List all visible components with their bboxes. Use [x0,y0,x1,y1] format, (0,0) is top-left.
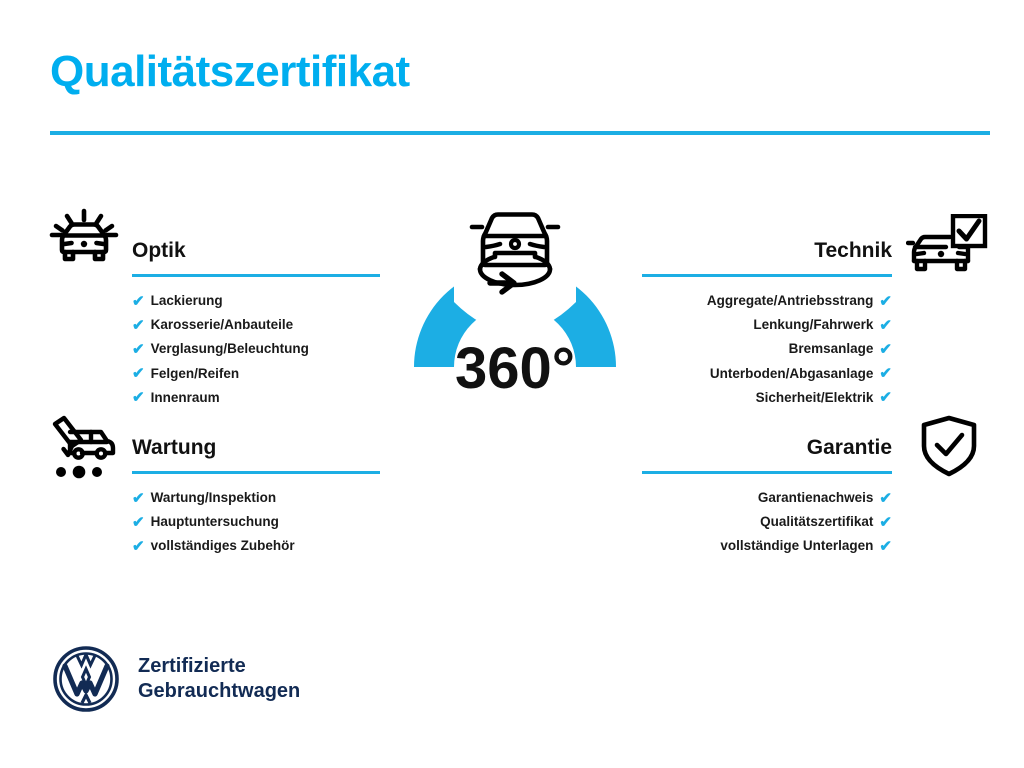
footer-brand-line2: Gebrauchtwagen [138,679,300,704]
section-technik-title: Technik [642,237,892,265]
list-item: ✔Lackierung [132,289,380,313]
badge-360-check: 360° Gebrauchtwagen-Check [370,192,660,492]
check-icon: ✔ [132,390,145,405]
section-garantie-underline [642,471,892,474]
page-title: Qualitätszertifikat [50,48,410,96]
section-technik: Technik ✔Aggregate/Antriebsstrang ✔Lenku… [642,237,892,410]
section-optik-header: Optik [132,237,380,281]
car-rotation-360-icon [450,195,580,307]
car-front-checkbox-icon [906,214,990,283]
list-item: ✔Felgen/Reifen [132,362,380,386]
header-divider [50,131,990,135]
list-item-label: vollständige Unterlagen [720,534,873,558]
list-item-label: Lackierung [151,289,223,313]
section-garantie-header: Garantie [642,434,892,478]
section-wartung-header: Wartung [132,434,380,478]
check-icon: ✔ [879,390,892,405]
check-icon: ✔ [879,515,892,530]
section-technik-underline [642,274,892,277]
list-item: ✔Wartung/Inspektion [132,486,380,510]
list-item-label: Karosserie/Anbauteile [151,313,294,337]
check-icon: ✔ [132,318,145,333]
list-item-label: Qualitätszertifikat [760,510,873,534]
list-item: ✔vollständiges Zubehör [132,534,380,558]
list-item: ✔Sicherheit/Elektrik [642,386,892,410]
footer-brand-line1: Zertifizierte [138,654,300,679]
section-technik-list: ✔Aggregate/Antriebsstrang ✔Lenkung/Fahrw… [642,289,892,410]
list-item-label: Felgen/Reifen [151,362,240,386]
check-icon: ✔ [132,515,145,530]
section-optik: Optik ✔Lackierung ✔Karosserie/Anbauteile… [132,237,380,410]
list-item: ✔Hauptuntersuchung [132,510,380,534]
list-item: ✔Qualitätszertifikat [642,510,892,534]
section-technik-header: Technik [642,237,892,281]
check-icon: ✔ [132,342,145,357]
list-item: ✔Verglasung/Beleuchtung [132,337,380,361]
list-item: ✔vollständige Unterlagen [642,534,892,558]
section-optik-underline [132,274,380,277]
list-item-label: Garantienachweis [758,486,874,510]
list-item-label: Sicherheit/Elektrik [756,386,874,410]
certificate-page: Qualitätszertifikat [0,0,1024,768]
list-item-label: Hauptuntersuchung [151,510,279,534]
list-item: ✔Bremsanlage [642,337,892,361]
footer-brand-text: Zertifizierte Gebrauchtwagen [138,654,300,704]
check-icon: ✔ [132,294,145,309]
section-wartung: Wartung ✔Wartung/Inspektion ✔Hauptunters… [132,434,380,559]
section-garantie-list: ✔Garantienachweis ✔Qualitätszertifikat ✔… [642,486,892,559]
check-icon: ✔ [132,366,145,381]
shield-check-icon [916,414,982,483]
list-item-label: Unterboden/Abgasanlage [710,362,874,386]
section-garantie-title: Garantie [642,434,892,462]
check-icon: ✔ [132,491,145,506]
list-item-label: vollständiges Zubehör [151,534,295,558]
check-icon: ✔ [879,318,892,333]
section-wartung-underline [132,471,380,474]
section-optik-title: Optik [132,237,380,265]
list-item: ✔Innenraum [132,386,380,410]
check-icon: ✔ [132,539,145,554]
car-front-shine-icon [46,204,122,285]
section-wartung-title: Wartung [132,434,380,462]
check-icon: ✔ [879,294,892,309]
check-icon: ✔ [879,539,892,554]
list-item: ✔Unterboden/Abgasanlage [642,362,892,386]
list-item: ✔Aggregate/Antriebsstrang [642,289,892,313]
section-garantie: Garantie ✔Garantienachweis ✔Qualitätszer… [642,434,892,559]
list-item: ✔Garantienachweis [642,486,892,510]
list-item-label: Wartung/Inspektion [151,486,277,510]
list-item-label: Aggregate/Antriebsstrang [707,289,874,313]
list-item-label: Innenraum [151,386,220,410]
list-item-label: Bremsanlage [789,337,874,361]
check-icon: ✔ [879,366,892,381]
volkswagen-logo-icon [52,645,120,713]
list-item: ✔Lenkung/Fahrwerk [642,313,892,337]
pencil-car-service-icon [46,415,122,486]
badge-center-label: 360° [455,336,575,401]
list-item-label: Verglasung/Beleuchtung [151,337,309,361]
section-optik-list: ✔Lackierung ✔Karosserie/Anbauteile ✔Verg… [132,289,380,410]
list-item: ✔Karosserie/Anbauteile [132,313,380,337]
list-item-label: Lenkung/Fahrwerk [753,313,873,337]
section-wartung-list: ✔Wartung/Inspektion ✔Hauptuntersuchung ✔… [132,486,380,559]
check-icon: ✔ [879,342,892,357]
check-icon: ✔ [879,491,892,506]
footer-brand-lockup: Zertifizierte Gebrauchtwagen [52,645,300,713]
